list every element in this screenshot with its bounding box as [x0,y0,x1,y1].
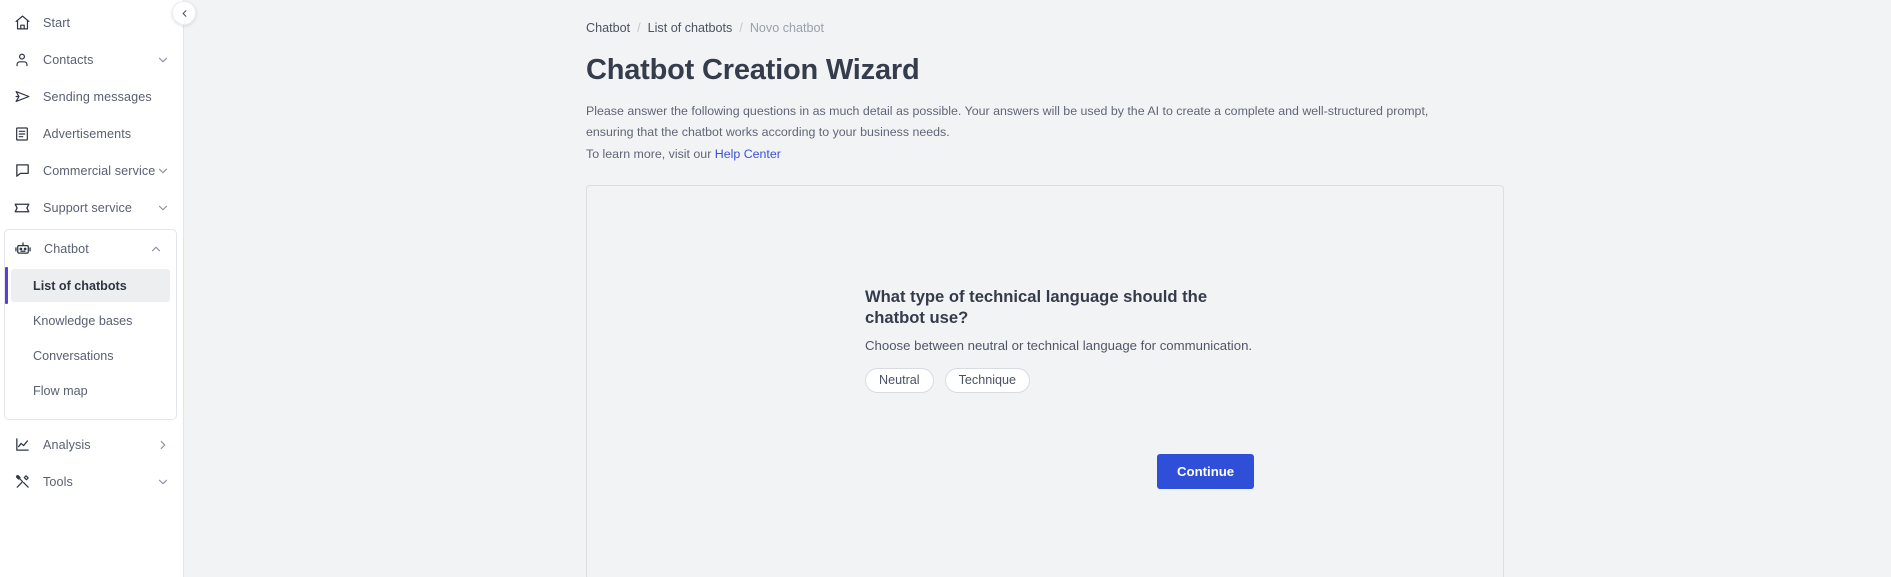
chevron-down-icon[interactable] [156,164,170,178]
sidebar-item-analysis[interactable]: Analysis [0,426,183,463]
sidebar-subitem-conversations[interactable]: Conversations [11,339,170,372]
breadcrumb-item-list-of-chatbots[interactable]: List of chatbots [648,21,733,35]
page-description: Please answer the following questions in… [586,101,1476,165]
wizard-question: What type of technical language should t… [865,286,1265,328]
user-icon [12,50,32,70]
sidebar-subitem-label: Conversations [33,349,114,363]
breadcrumb-item-chatbot[interactable]: Chatbot [586,21,630,35]
sidebar-item-label: Analysis [43,438,156,452]
sidebar-item-label: Support service [43,201,156,215]
chevron-left-icon [179,8,190,19]
chevron-right-icon[interactable] [156,438,170,452]
breadcrumb-separator: / [637,21,641,35]
sidebar-item-contacts[interactable]: Contacts [0,41,183,78]
app-root: Start Contacts Sending messages Advertis… [0,0,1891,577]
sidebar-collapse-toggle[interactable] [172,1,196,25]
chevron-down-icon[interactable] [156,475,170,489]
sidebar-group-chatbot: Chatbot List of chatbots Knowledge bases… [4,229,177,420]
sidebar-subitem-label: Flow map [33,384,88,398]
sidebar: Start Contacts Sending messages Advertis… [0,0,184,577]
sidebar-subitem-label: List of chatbots [33,279,127,293]
page-title: Chatbot Creation Wizard [586,54,1891,87]
breadcrumb-separator: / [739,21,743,35]
sidebar-item-tools[interactable]: Tools [0,463,183,500]
sidebar-item-label: Advertisements [43,127,170,141]
sidebar-subitem-list-of-chatbots[interactable]: List of chatbots [11,269,170,302]
continue-button[interactable]: Continue [1157,454,1254,489]
sidebar-subitem-flow-map[interactable]: Flow map [11,374,170,407]
sidebar-item-label: Contacts [43,53,156,67]
sidebar-item-sending-messages[interactable]: Sending messages [0,78,183,115]
document-icon [12,124,32,144]
tools-icon [12,472,32,492]
wizard-options: Neutral Technique [865,368,1265,393]
sidebar-subitem-label: Knowledge bases [33,314,132,328]
sidebar-item-start[interactable]: Start [0,4,183,41]
sidebar-item-commercial-service[interactable]: Commercial service [0,152,183,189]
sidebar-item-advertisements[interactable]: Advertisements [0,115,183,152]
option-chip-technique[interactable]: Technique [945,368,1030,393]
wizard-subtitle: Choose between neutral or technical lang… [865,338,1265,353]
main-content: Chatbot / List of chatbots / Novo chatbo… [184,0,1891,577]
content-container: Chatbot / List of chatbots / Novo chatbo… [184,18,1891,577]
sidebar-item-label: Commercial service [43,164,156,178]
breadcrumb: Chatbot / List of chatbots / Novo chatbo… [586,18,1891,38]
sidebar-item-label: Start [43,16,170,30]
ticket-icon [12,198,32,218]
sidebar-item-label: Sending messages [43,90,170,104]
help-center-link[interactable]: Help Center [715,147,781,161]
chart-line-icon [12,435,32,455]
chevron-down-icon[interactable] [156,53,170,67]
breadcrumb-item-novo-chatbot: Novo chatbot [750,21,824,35]
wizard-actions: Continue [1157,454,1254,489]
chat-bubble-icon [12,161,32,181]
sidebar-item-label: Chatbot [44,242,149,256]
sidebar-subitem-knowledge-bases[interactable]: Knowledge bases [11,304,170,337]
home-icon [12,13,32,33]
wizard-card: What type of technical language should t… [586,185,1504,577]
sidebar-item-label: Tools [43,475,156,489]
help-prefix-text: To learn more, visit our [586,147,715,161]
description-text: Please answer the following questions in… [586,104,1428,139]
chevron-up-icon[interactable] [149,242,163,256]
chevron-down-icon[interactable] [156,201,170,215]
send-icon [12,87,32,107]
sidebar-item-chatbot[interactable]: Chatbot [5,230,176,267]
robot-icon [13,239,33,259]
sidebar-item-support-service[interactable]: Support service [0,189,183,226]
wizard-question-block: What type of technical language should t… [865,286,1265,393]
option-chip-neutral[interactable]: Neutral [865,368,934,393]
